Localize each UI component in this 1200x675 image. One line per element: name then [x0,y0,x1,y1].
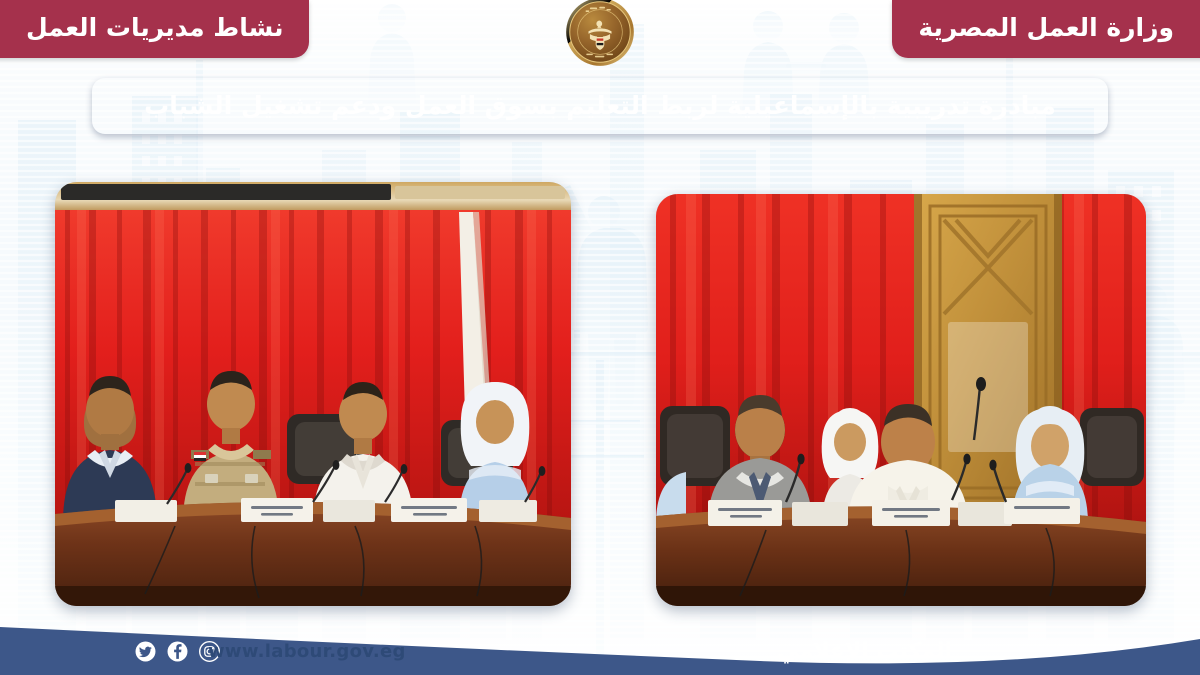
facebook-icon[interactable] [167,641,188,662]
photo-right-image [656,194,1146,606]
header-right-tab-label: وزارة العمل المصرية [918,13,1174,42]
website-url[interactable]: www.labour.gov.eg [208,641,406,662]
twitter-icon[interactable] [135,641,156,662]
footer: المكتب الإعلامي www.labour.gov.eg [0,627,1200,675]
photo-left [55,182,571,606]
header-right-tab: وزارة العمل المصرية [892,0,1200,58]
header-left-tab-label: نشاط مديريات العمل [26,13,283,42]
photo-left-image [55,182,571,606]
photo-right [656,194,1146,606]
page-title: مبادرة تدريبية بالإسماعيلية لربط التعليم… [144,92,1056,121]
main-title-banner: مبادرة تدريبية بالإسماعيلية لربط التعليم… [92,78,1108,134]
media-office-label: المكتب الإعلامي [777,639,952,664]
header-left-tab: نشاط مديريات العمل [0,0,309,58]
poster-canvas: نشاط مديريات العمل وزارة العمل المصرية [0,0,1200,675]
ministry-of-labour-seal-icon [564,0,636,68]
header-band: نشاط مديريات العمل وزارة العمل المصرية [0,0,1200,62]
